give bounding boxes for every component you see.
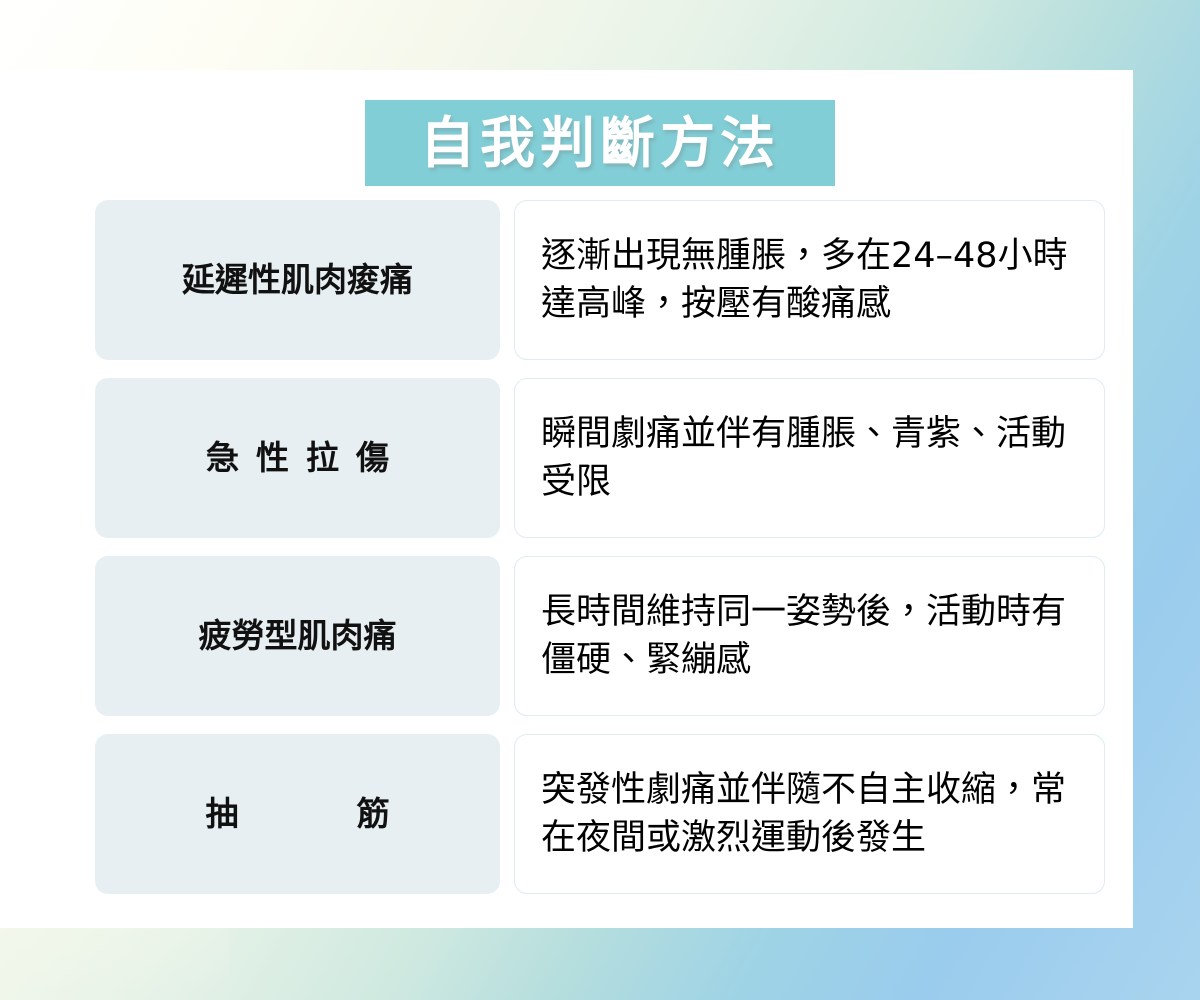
row-description-cell: 長時間維持同一姿勢後，活動時有僵硬、緊繃感	[514, 556, 1105, 716]
table-row: 疲勞型肌肉痛 長時間維持同一姿勢後，活動時有僵硬、緊繃感	[95, 556, 1105, 716]
row-label-cell: 延遲性肌肉痠痛	[95, 200, 500, 360]
row-label-text: 疲勞型肌肉痛	[199, 616, 397, 656]
title-banner: 自我判斷方法	[365, 100, 835, 186]
table-row: 急性拉傷 瞬間劇痛並伴有腫脹、青紫、活動受限	[95, 378, 1105, 538]
row-label-text: 延遲性肌肉痠痛	[182, 260, 413, 300]
row-label-cell: 抽筋	[95, 734, 500, 894]
table-row: 延遲性肌肉痠痛 逐漸出現無腫脹，多在24–48小時達高峰，按壓有酸痛感	[95, 200, 1105, 360]
row-label-cell: 急性拉傷	[95, 378, 500, 538]
row-description-cell: 突發性劇痛並伴隨不自主收縮，常在夜間或激烈運動後發生	[514, 734, 1105, 894]
row-description-text: 突發性劇痛並伴隨不自主收縮，常在夜間或激烈運動後發生	[541, 766, 1078, 863]
row-label-text: 抽筋	[88, 794, 508, 834]
row-description-text: 長時間維持同一姿勢後，活動時有僵硬、緊繃感	[541, 588, 1078, 685]
content-card: 自我判斷方法 延遲性肌肉痠痛 逐漸出現無腫脹，多在24–48小時達高峰，按壓有酸…	[0, 70, 1133, 928]
row-description-cell: 逐漸出現無腫脹，多在24–48小時達高峰，按壓有酸痛感	[514, 200, 1105, 360]
page-title: 自我判斷方法	[420, 116, 780, 171]
row-label-text: 急性拉傷	[189, 438, 406, 478]
row-description-text: 瞬間劇痛並伴有腫脹、青紫、活動受限	[541, 410, 1078, 507]
table-row: 抽筋 突發性劇痛並伴隨不自主收縮，常在夜間或激烈運動後發生	[95, 734, 1105, 894]
row-description-text: 逐漸出現無腫脹，多在24–48小時達高峰，按壓有酸痛感	[541, 232, 1078, 329]
self-assessment-table: 延遲性肌肉痠痛 逐漸出現無腫脹，多在24–48小時達高峰，按壓有酸痛感 急性拉傷…	[95, 200, 1105, 894]
row-label-cell: 疲勞型肌肉痛	[95, 556, 500, 716]
row-description-cell: 瞬間劇痛並伴有腫脹、青紫、活動受限	[514, 378, 1105, 538]
